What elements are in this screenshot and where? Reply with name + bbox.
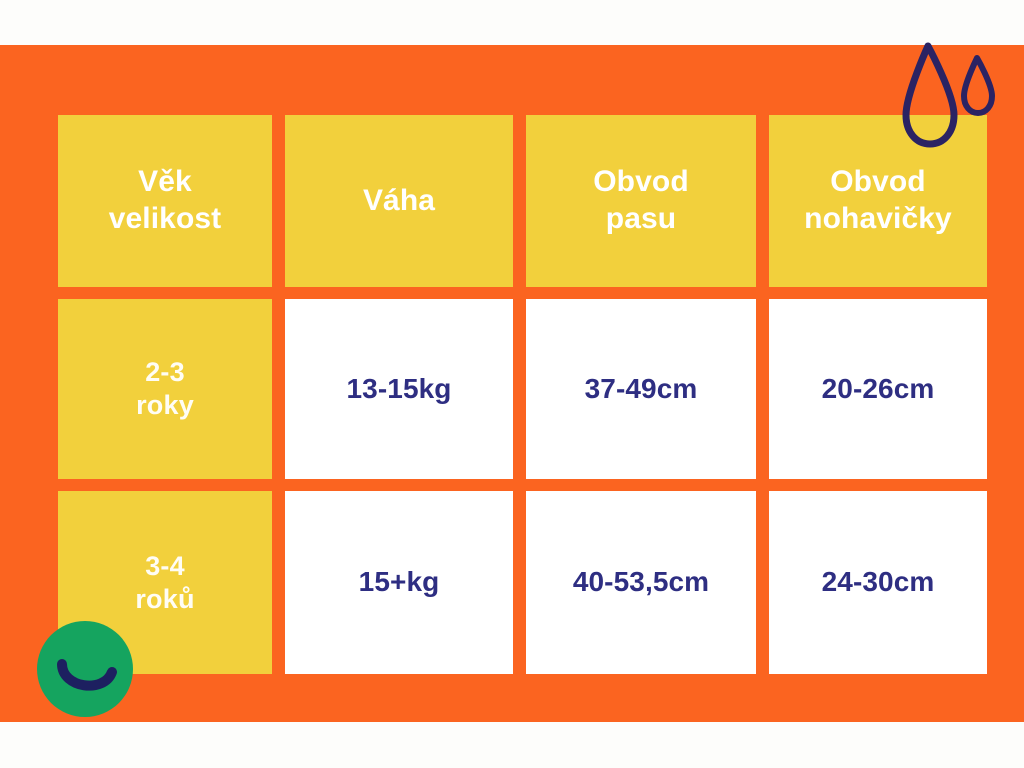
row1-age-line1: 2-3	[145, 357, 185, 387]
row2-waist-value: 40-53,5cm	[573, 565, 709, 599]
table-row: 2-3 roky	[58, 299, 272, 479]
row1-leg-value: 20-26cm	[822, 372, 935, 406]
table-cell-waist: 37-49cm	[526, 299, 756, 479]
header-waist-line1: Obvod	[593, 165, 689, 198]
row2-leg-value: 24-30cm	[822, 565, 935, 599]
row1-weight-value: 13-15kg	[347, 372, 452, 406]
table-header-cell-leg: Obvod nohavičky	[769, 115, 987, 287]
header-age-line1: Věk	[138, 165, 192, 198]
table-header-cell-weight: Váha	[285, 115, 513, 287]
table-cell-weight: 15+kg	[285, 491, 513, 674]
table-header-cell-age: Věk velikost	[58, 115, 272, 287]
header-leg-line1: Obvod	[830, 165, 926, 198]
table-cell-leg: 20-26cm	[769, 299, 987, 479]
table-header-cell-waist: Obvod pasu	[526, 115, 756, 287]
header-age-line2: velikost	[109, 201, 222, 238]
table-cell-waist: 40-53,5cm	[526, 491, 756, 674]
poster-canvas: Věk velikost Váha Obvod pasu Obvod nohav…	[0, 0, 1024, 768]
row2-age-line2: roků	[135, 583, 194, 616]
row2-age-line1: 3-4	[145, 551, 185, 581]
table-row: 3-4 roků	[58, 491, 272, 674]
table-cell-weight: 13-15kg	[285, 299, 513, 479]
row1-waist-value: 37-49cm	[585, 372, 698, 406]
row2-weight-value: 15+kg	[359, 565, 440, 599]
size-chart-table: Věk velikost Váha Obvod pasu Obvod nohav…	[58, 115, 960, 662]
header-waist-line2: pasu	[593, 201, 689, 238]
header-weight-line1: Váha	[363, 184, 435, 217]
header-leg-line2: nohavičky	[804, 201, 952, 238]
table-cell-leg: 24-30cm	[769, 491, 987, 674]
row1-age-line2: roky	[136, 389, 194, 422]
